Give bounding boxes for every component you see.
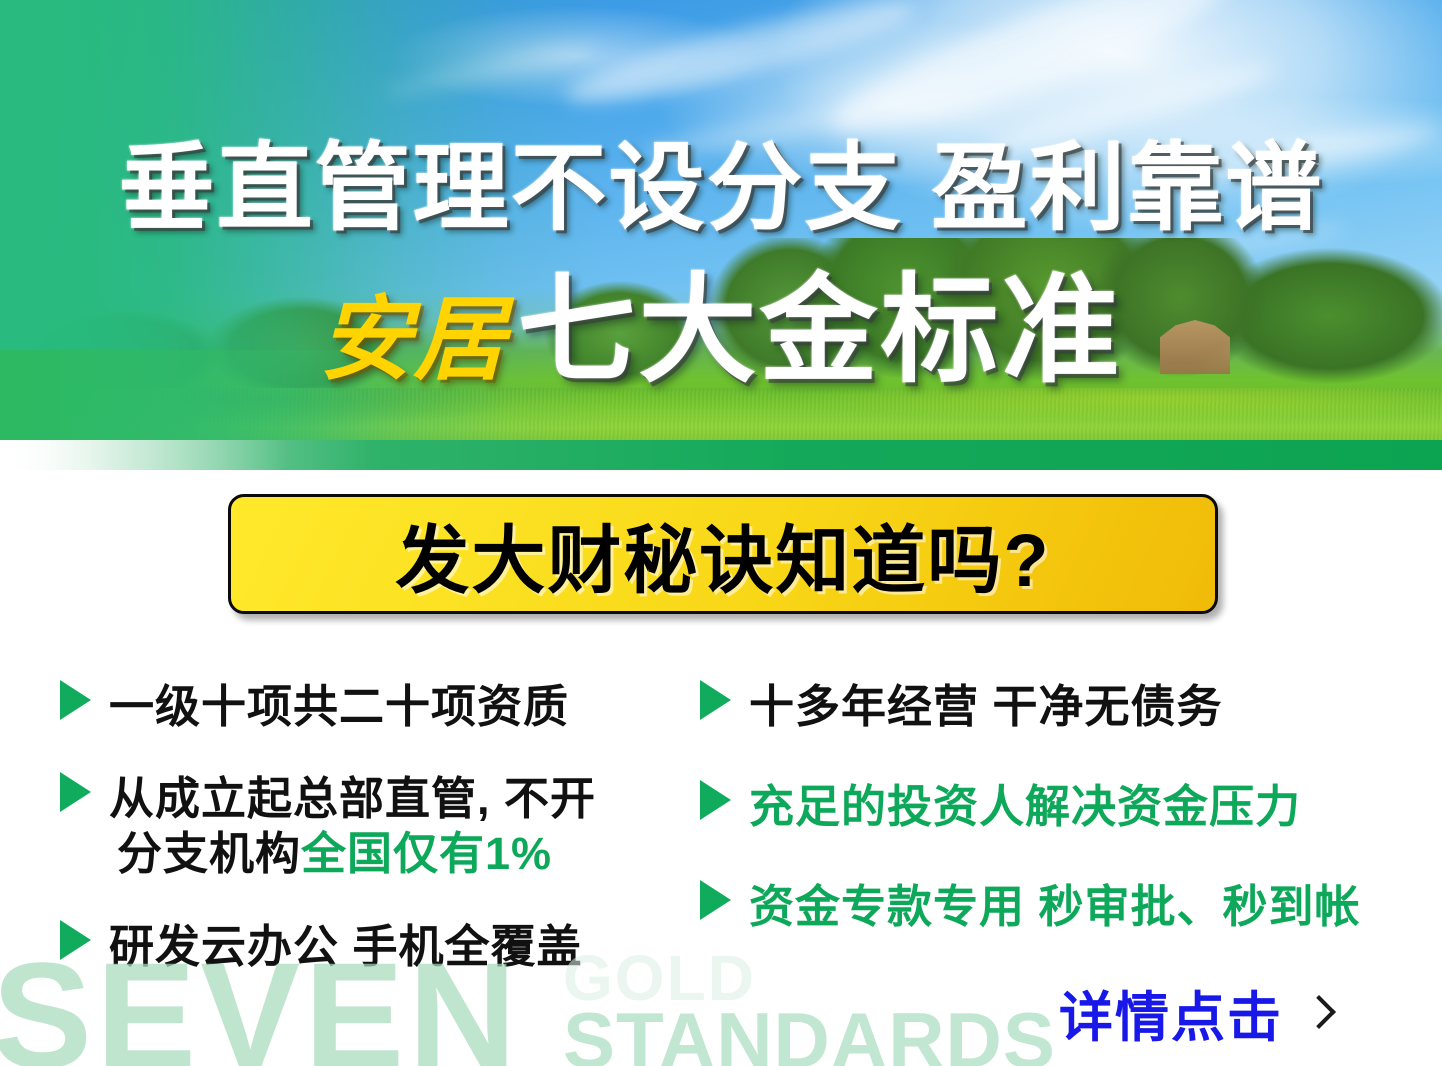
feature-list-section: 一级十项共二十项资质 从成立起总部直管, 不开 分支机构全国仅有1% 研发云办公… <box>0 662 1442 992</box>
feature-line: 从成立起总部直管, 不开 <box>109 772 596 827</box>
feature-line: 研发云办公 手机全覆盖 <box>109 920 583 975</box>
triangle-right-icon <box>60 920 91 960</box>
triangle-right-icon <box>60 772 91 812</box>
feature-item: 一级十项共二十项资质 <box>60 680 569 735</box>
feature-item: 从成立起总部直管, 不开 分支机构全国仅有1% <box>60 772 596 882</box>
feature-item-text: 资金专款专用 秒审批、秒到帐 <box>749 880 1361 935</box>
feature-line: 一级十项共二十项资质 <box>109 680 569 735</box>
feature-item-text: 十多年经营 干净无债务 <box>749 680 1223 735</box>
feature-segment: 分支机构 <box>117 828 301 879</box>
details-link[interactable]: 详情点击 <box>1059 973 1325 1052</box>
feature-item-text: 充足的投资人解决资金压力 <box>749 780 1301 835</box>
advertisement-banner: 垂直管理不设分支 盈利靠谱 安居七大金标准 发大财秘诀知道吗? 一级十项共二十项… <box>0 0 1442 1066</box>
feature-item-text: 从成立起总部直管, 不开 分支机构全国仅有1% <box>109 772 596 882</box>
feature-item: 十多年经营 干净无债务 <box>700 680 1223 735</box>
feature-line: 十多年经营 干净无债务 <box>749 680 1223 735</box>
feature-item: 研发云办公 手机全覆盖 <box>60 920 583 975</box>
triangle-right-icon <box>700 880 731 920</box>
hero-section: 垂直管理不设分支 盈利靠谱 安居七大金标准 <box>0 0 1442 470</box>
hero-headline-brand-prefix: 安居 <box>319 294 507 386</box>
feature-line: 分支机构全国仅有1% <box>109 827 596 882</box>
highlight-question-text: 发大财秘诀知道吗? <box>395 501 1050 608</box>
triangle-right-icon <box>60 680 91 720</box>
feature-segment: 从成立起总部直管, 不开 <box>109 773 596 824</box>
hero-headline-primary: 垂直管理不设分支 盈利靠谱 <box>0 110 1442 249</box>
feature-item: 充足的投资人解决资金压力 <box>700 780 1301 835</box>
feature-line: 充足的投资人解决资金压力 <box>749 780 1301 835</box>
feature-segment: 研发云办公 手机全覆盖 <box>109 921 583 972</box>
hero-headline-secondary: 安居七大金标准 <box>0 272 1442 390</box>
triangle-right-icon <box>700 680 731 720</box>
feature-line: 资金专款专用 秒审批、秒到帐 <box>749 880 1361 935</box>
hero-bottom-strip <box>0 440 1442 470</box>
details-link-label: 详情点击 <box>1059 973 1283 1052</box>
feature-segment: 一级十项共二十项资质 <box>109 681 569 732</box>
feature-segment-highlight: 全国仅有1% <box>301 828 552 879</box>
hero-headline-main: 七大金标准 <box>518 272 1123 390</box>
triangle-right-icon <box>700 780 731 820</box>
feature-item-text: 研发云办公 手机全覆盖 <box>109 920 583 975</box>
chevron-right-icon <box>1305 996 1325 1030</box>
feature-item-text: 一级十项共二十项资质 <box>109 680 569 735</box>
watermark-standards: STANDARDS <box>563 1001 1056 1066</box>
feature-segment-highlight: 资金专款专用 秒审批、秒到帐 <box>749 881 1361 932</box>
feature-segment-highlight: 充足的投资人解决资金压力 <box>749 781 1301 832</box>
feature-segment: 十多年经营 干净无债务 <box>749 681 1223 732</box>
feature-item: 资金专款专用 秒审批、秒到帐 <box>700 880 1361 935</box>
highlight-question-bar[interactable]: 发大财秘诀知道吗? <box>228 494 1218 614</box>
